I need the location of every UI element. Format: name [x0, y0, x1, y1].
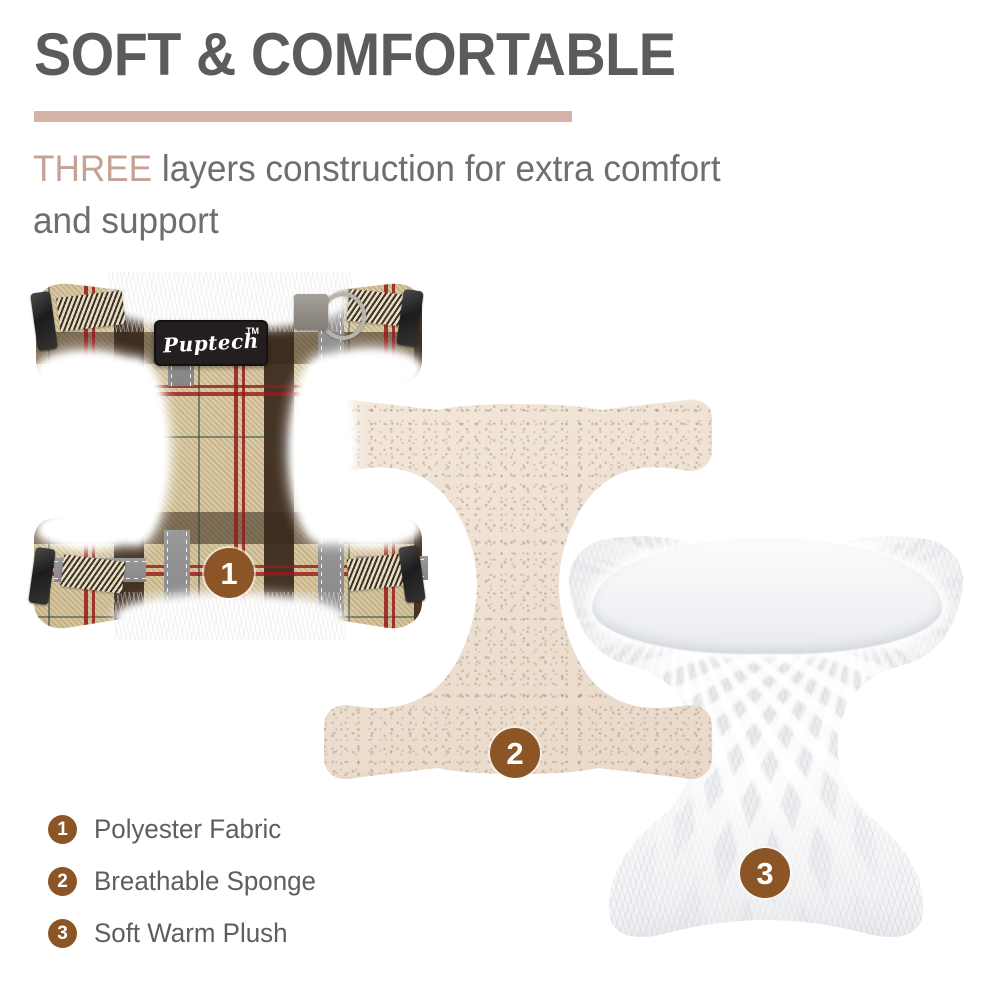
brand-name: Puptech [163, 329, 260, 358]
legend-label-2: Breathable Sponge [94, 866, 316, 897]
layer-badge-3: 3 [740, 848, 790, 898]
legend-label-3: Soft Warm Plush [94, 918, 288, 949]
legend-badge-1: 1 [48, 815, 77, 844]
fur-trim-right-lower [326, 514, 414, 540]
layer-1-polyester-fabric: Puptech TM 1 [18, 272, 438, 662]
title-underline-rule [34, 111, 572, 122]
fur-trim-right-armhole [296, 364, 348, 536]
fur-trim-left-lower [44, 516, 132, 542]
legend-item: 3 Soft Warm Plush [48, 912, 325, 954]
legend-badge-3: 3 [48, 919, 77, 948]
strap-slider[interactable] [294, 294, 328, 330]
legend-label-1: Polyester Fabric [94, 814, 281, 845]
layers-legend: 1 Polyester Fabric 2 Breathable Sponge 3… [48, 808, 325, 964]
infographic-page: SOFT & COMFORTABLE THREE layers construc… [0, 0, 1000, 1000]
fur-trim-left-armhole [110, 366, 162, 538]
page-subtitle: THREE layers construction for extra comf… [33, 143, 784, 247]
layer-badge-2: 2 [490, 728, 540, 778]
subtitle-accent-word: THREE [33, 148, 152, 189]
reflective-strip [318, 528, 344, 616]
legend-item: 2 Breathable Sponge [48, 860, 325, 902]
fur-trim-left-strap [42, 358, 132, 386]
fur-trim-bottom-hem [122, 602, 336, 632]
page-title: SOFT & COMFORTABLE [34, 24, 676, 86]
legend-item: 1 Polyester Fabric [48, 808, 325, 850]
trademark-symbol: TM [246, 326, 259, 336]
legend-badge-2: 2 [48, 867, 77, 896]
fur-trim-right-strap [324, 356, 416, 384]
layer-badge-1: 1 [204, 548, 254, 598]
brand-patch: Puptech TM [154, 320, 268, 366]
